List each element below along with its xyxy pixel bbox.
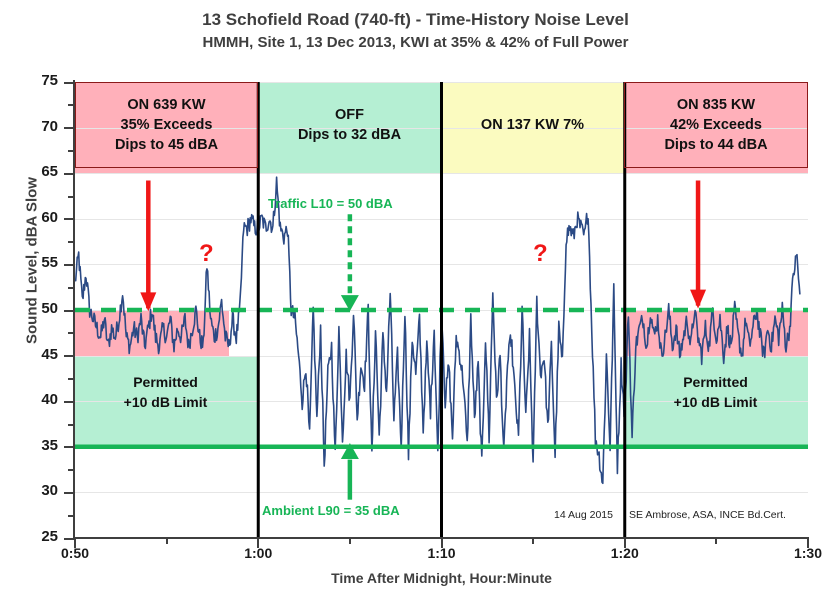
- y-tick-label-50: 50: [22, 300, 58, 317]
- y-tick-minor-50: [68, 332, 75, 334]
- x-tick-minor-70: [532, 538, 534, 544]
- y-tick-minor-65: [68, 196, 75, 198]
- x-tick-major-80: [624, 538, 626, 548]
- zone-label-on-835kw: ON 835 KW 42% Exceeds Dips to 44 dBA: [624, 82, 808, 168]
- zone-line-1: ON 639 KW: [127, 95, 205, 115]
- zone-line-2: Dips to 32 dBA: [298, 125, 401, 145]
- zone-line-3: Dips to 45 dBA: [115, 135, 218, 155]
- y-tick-major-50: [64, 310, 75, 312]
- permitted-limit-label-right: Permitted +10 dB Limit: [628, 372, 803, 412]
- x-tick-major-50: [74, 538, 76, 548]
- y-tick-minor-75: [68, 104, 75, 106]
- y-tick-minor-55: [68, 287, 75, 289]
- y-tick-major-30: [64, 492, 75, 494]
- y-tick-major-45: [64, 355, 75, 357]
- zone-label-on-137kw: ON 137 KW 7%: [441, 82, 624, 168]
- permitted-line-1: Permitted: [683, 374, 748, 390]
- y-tick-minor-70: [68, 150, 75, 152]
- y-tick-label-35: 35: [22, 437, 58, 454]
- credit-date: 14 Aug 2015: [554, 509, 613, 521]
- y-tick-label-65: 65: [22, 163, 58, 180]
- question-mark-right: ?: [533, 240, 548, 268]
- y-tick-label-55: 55: [22, 254, 58, 271]
- y-tick-label-70: 70: [22, 118, 58, 135]
- credit-author: SE Ambrose, ASA, INCE Bd.Cert.: [629, 509, 786, 521]
- permitted-limit-label-left: Permitted +10 dB Limit: [78, 372, 253, 412]
- y-tick-major-40: [64, 401, 75, 403]
- y-tick-minor-45: [68, 378, 75, 380]
- y-tick-minor-35: [68, 469, 75, 471]
- zone-label-off: OFF Dips to 32 dBA: [258, 82, 441, 168]
- y-tick-major-75: [64, 82, 75, 84]
- zone-line-1: ON 137 KW 7%: [481, 115, 584, 135]
- data-trace-line: [75, 177, 800, 483]
- chart-title-block: 13 Schofield Road (740-ft) - Time-Histor…: [0, 8, 831, 54]
- y-tick-label-60: 60: [22, 209, 58, 226]
- x-tick-minor-60: [349, 538, 351, 544]
- question-mark-left: ?: [199, 240, 214, 268]
- zone-line-2: 35% Exceeds: [121, 115, 213, 135]
- y-tick-major-60: [64, 218, 75, 220]
- permitted-line-2: +10 dB Limit: [124, 394, 208, 410]
- y-tick-major-55: [64, 264, 75, 266]
- y-tick-label-75: 75: [22, 72, 58, 89]
- red-down-arrow-right-head: [690, 290, 706, 309]
- y-tick-label-40: 40: [22, 391, 58, 408]
- x-tick-major-60: [257, 538, 259, 548]
- x-tick-major-70: [441, 538, 443, 548]
- traffic-l10-label: Traffic L10 = 50 dBA: [268, 196, 393, 211]
- zone-line-1: ON 835 KW: [677, 95, 755, 115]
- page-title: 13 Schofield Road (740-ft) - Time-Histor…: [0, 8, 831, 32]
- noise-level-chart: 13 Schofield Road (740-ft) - Time-Histor…: [0, 0, 831, 599]
- x-tick-major-90: [807, 538, 809, 548]
- x-tick-label-90: 1:30: [778, 545, 831, 561]
- permitted-line-2: +10 dB Limit: [674, 394, 758, 410]
- zone-line-2: 42% Exceeds: [670, 115, 762, 135]
- y-tick-major-35: [64, 446, 75, 448]
- y-tick-minor-30: [68, 515, 75, 517]
- permitted-line-1: Permitted: [133, 374, 198, 390]
- y-tick-minor-40: [68, 424, 75, 426]
- y-tick-label-25: 25: [22, 528, 58, 545]
- x-tick-minor-80: [715, 538, 717, 544]
- y-tick-label-30: 30: [22, 482, 58, 499]
- y-tick-label-45: 45: [22, 346, 58, 363]
- ambient-l90-label: Ambient L90 = 35 dBA: [262, 503, 400, 518]
- y-tick-major-70: [64, 127, 75, 129]
- zone-line-3: Dips to 44 dBA: [664, 135, 767, 155]
- zone-line-1: OFF: [335, 105, 364, 125]
- y-tick-minor-60: [68, 241, 75, 243]
- zone-label-on-639kw: ON 639 KW 35% Exceeds Dips to 45 dBA: [75, 82, 258, 168]
- y-tick-major-65: [64, 173, 75, 175]
- page-subtitle: HMMH, Site 1, 13 Dec 2013, KWI at 35% & …: [0, 32, 831, 54]
- x-tick-minor-50: [166, 538, 168, 544]
- x-axis-title: Time After Midnight, Hour:Minute: [75, 570, 808, 586]
